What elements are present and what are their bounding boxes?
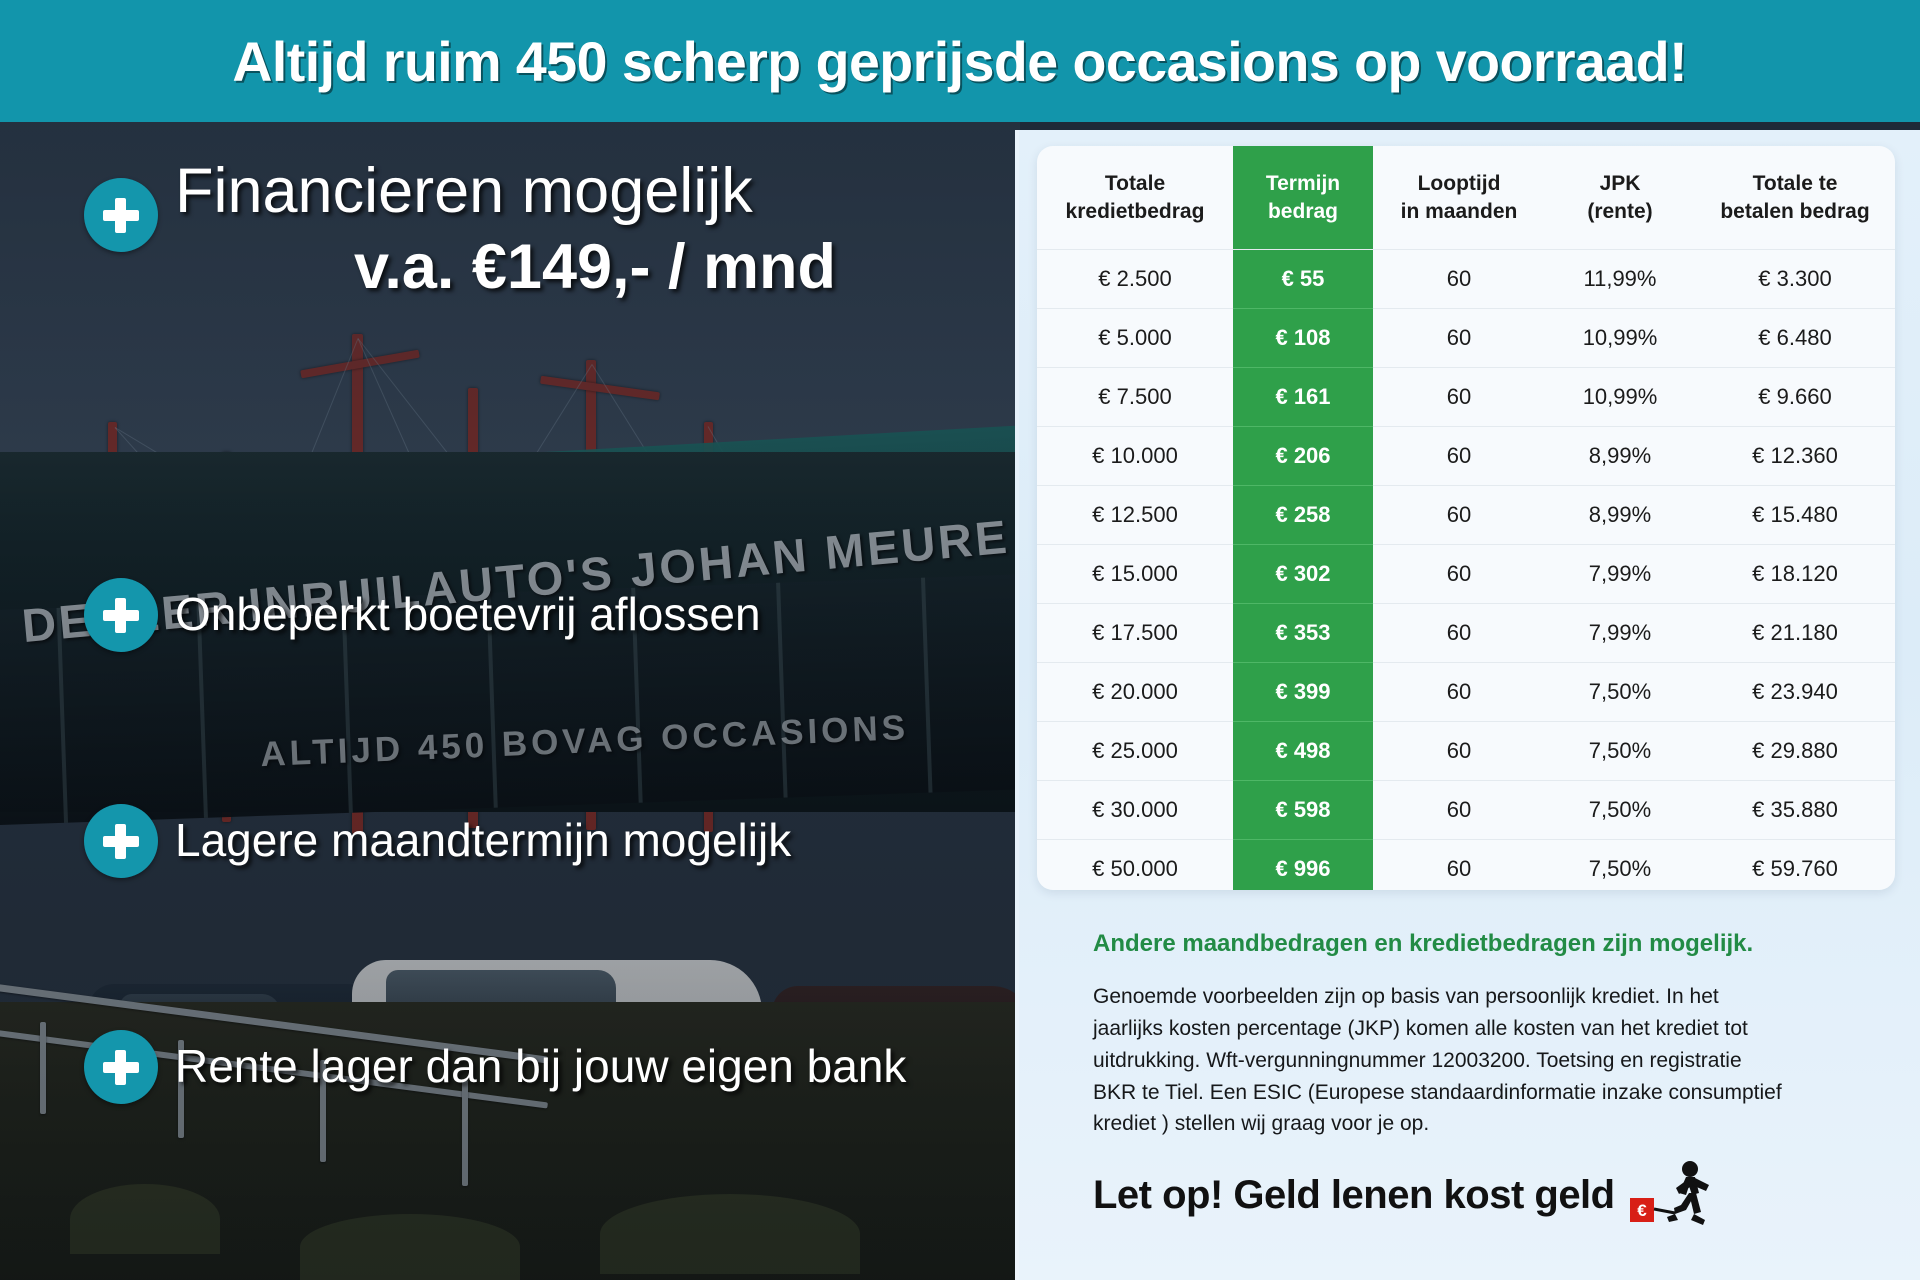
column-header-termijnbedrag: Termijn bedrag xyxy=(1233,146,1373,249)
list-item: Rente lager dan bij jouw eigen bank xyxy=(0,1026,1020,1106)
top-banner-text: Altijd ruim 450 scherp geprijsde occasio… xyxy=(233,29,1688,94)
column-header-jpk: JPK (rente) xyxy=(1545,146,1695,249)
header-line-2: in maanden xyxy=(1401,200,1518,223)
table-cell: 60 xyxy=(1373,839,1545,890)
afm-warning-text: Let op! Geld lenen kost geld xyxy=(1093,1173,1615,1218)
table-cell: € 302 xyxy=(1233,544,1373,603)
table-cell: 8,99% xyxy=(1545,426,1695,485)
table-cell: € 50.000 xyxy=(1037,839,1233,890)
table-cell: € 206 xyxy=(1233,426,1373,485)
table-row: € 10.000€ 206608,99%€ 12.360 xyxy=(1037,426,1895,485)
table-cell: € 18.120 xyxy=(1695,544,1895,603)
table-cell: 60 xyxy=(1373,426,1545,485)
table-cell: € 3.300 xyxy=(1695,249,1895,308)
svg-text:€: € xyxy=(1637,1201,1647,1220)
advertisement-banner: Altijd ruim 450 scherp geprijsde occasio… xyxy=(0,0,1920,1280)
table-cell: 60 xyxy=(1373,780,1545,839)
table-row: € 20.000€ 399607,50%€ 23.940 xyxy=(1037,662,1895,721)
header-line-1: Totale te xyxy=(1753,172,1838,195)
column-header-kredietbedrag: Totale kredietbedrag xyxy=(1037,146,1233,249)
table-row: € 5.000€ 1086010,99%€ 6.480 xyxy=(1037,308,1895,367)
table-cell: € 15.000 xyxy=(1037,544,1233,603)
list-item: Lagere maandtermijn mogelijk xyxy=(0,800,1020,880)
disclaimer-heading: Andere maandbedragen en kredietbedragen … xyxy=(1093,930,1863,959)
table-cell: 7,99% xyxy=(1545,603,1695,662)
table-cell: 60 xyxy=(1373,544,1545,603)
table-cell: € 108 xyxy=(1233,308,1373,367)
table-row: € 2.500€ 556011,99%€ 3.300 xyxy=(1037,249,1895,308)
table-cell: 10,99% xyxy=(1545,308,1695,367)
table-cell: € 2.500 xyxy=(1037,249,1233,308)
table-cell: € 23.940 xyxy=(1695,662,1895,721)
list-item: Onbeperkt boetevrij aflossen xyxy=(0,574,1020,654)
table-row: € 30.000€ 598607,50%€ 35.880 xyxy=(1037,780,1895,839)
table-cell: € 25.000 xyxy=(1037,721,1233,780)
table-cell: 60 xyxy=(1373,662,1545,721)
table-cell: € 258 xyxy=(1233,485,1373,544)
list-item-label: Lagere maandtermijn mogelijk xyxy=(175,800,791,880)
table-cell: 11,99% xyxy=(1545,249,1695,308)
disclaimer-block: Andere maandbedragen en kredietbedragen … xyxy=(1093,930,1863,1140)
table-cell: 60 xyxy=(1373,603,1545,662)
column-header-looptijd: Looptijd in maanden xyxy=(1373,146,1545,249)
afm-warning: Let op! Geld lenen kost geld € xyxy=(1093,1160,1883,1230)
table-row: € 17.500€ 353607,99%€ 21.180 xyxy=(1037,603,1895,662)
header-line-2: kredietbedrag xyxy=(1066,200,1205,223)
plus-icon xyxy=(84,1030,158,1104)
table-cell: € 59.760 xyxy=(1695,839,1895,890)
headline-line-2: v.a. €149,- / mnd xyxy=(175,234,1015,300)
header-line-1: JPK xyxy=(1600,172,1641,195)
table-row: € 15.000€ 302607,99%€ 18.120 xyxy=(1037,544,1895,603)
table-cell: 60 xyxy=(1373,721,1545,780)
table-cell: 7,50% xyxy=(1545,839,1695,890)
financing-panel: Totale kredietbedrag Termijn bedrag Loop… xyxy=(1015,130,1920,1280)
header-line-1: Termijn xyxy=(1266,172,1340,195)
table-cell: € 598 xyxy=(1233,780,1373,839)
table-body: € 2.500€ 556011,99%€ 3.300€ 5.000€ 10860… xyxy=(1037,249,1895,890)
plus-icon xyxy=(84,178,158,252)
table-cell: € 29.880 xyxy=(1695,721,1895,780)
table-cell: 60 xyxy=(1373,485,1545,544)
table-cell: € 35.880 xyxy=(1695,780,1895,839)
table-cell: € 17.500 xyxy=(1037,603,1233,662)
table-cell: 60 xyxy=(1373,308,1545,367)
table-row: € 50.000€ 996607,50%€ 59.760 xyxy=(1037,839,1895,890)
benefits-list: Financieren mogelijk v.a. €149,- / mnd O… xyxy=(0,122,1020,1280)
table-cell: 7,99% xyxy=(1545,544,1695,603)
header-line-2: bedrag xyxy=(1268,200,1338,223)
table-cell: 7,50% xyxy=(1545,662,1695,721)
header-line-2: betalen bedrag xyxy=(1720,200,1869,223)
header-line-1: Looptijd xyxy=(1418,172,1501,195)
table-header-row: Totale kredietbedrag Termijn bedrag Loop… xyxy=(1037,146,1895,249)
list-item-label: Onbeperkt boetevrij aflossen xyxy=(175,574,761,654)
panel-left-edge xyxy=(1015,130,1019,1280)
table-header: Totale kredietbedrag Termijn bedrag Loop… xyxy=(1037,146,1895,249)
table-cell: € 12.500 xyxy=(1037,485,1233,544)
disclaimer-body: Genoemde voorbeelden zijn op basis van p… xyxy=(1093,981,1783,1141)
table-cell: € 10.000 xyxy=(1037,426,1233,485)
headline-line-1: Financieren mogelijk xyxy=(175,158,1015,224)
table-cell: 10,99% xyxy=(1545,367,1695,426)
list-item-label: Rente lager dan bij jouw eigen bank xyxy=(175,1026,906,1106)
financing-table-card: Totale kredietbedrag Termijn bedrag Loop… xyxy=(1037,146,1895,890)
table-cell: 8,99% xyxy=(1545,485,1695,544)
table-cell: € 161 xyxy=(1233,367,1373,426)
table-cell: 60 xyxy=(1373,249,1545,308)
plus-icon xyxy=(84,578,158,652)
table-row: € 12.500€ 258608,99%€ 15.480 xyxy=(1037,485,1895,544)
table-cell: 7,50% xyxy=(1545,721,1695,780)
header-line-1: Totale xyxy=(1105,172,1165,195)
table-cell: € 30.000 xyxy=(1037,780,1233,839)
table-cell: € 7.500 xyxy=(1037,367,1233,426)
table-cell: € 5.000 xyxy=(1037,308,1233,367)
table-cell: € 55 xyxy=(1233,249,1373,308)
table-cell: € 15.480 xyxy=(1695,485,1895,544)
table-cell: € 498 xyxy=(1233,721,1373,780)
financing-table: Totale kredietbedrag Termijn bedrag Loop… xyxy=(1037,146,1895,890)
table-cell: € 996 xyxy=(1233,839,1373,890)
plus-icon xyxy=(84,804,158,878)
table-cell: € 20.000 xyxy=(1037,662,1233,721)
header-line-2: (rente) xyxy=(1587,200,1652,223)
column-header-totale-te-betalen: Totale te betalen bedrag xyxy=(1695,146,1895,249)
table-cell: € 9.660 xyxy=(1695,367,1895,426)
table-cell: € 6.480 xyxy=(1695,308,1895,367)
table-cell: € 12.360 xyxy=(1695,426,1895,485)
top-banner: Altijd ruim 450 scherp geprijsde occasio… xyxy=(0,0,1920,122)
table-row: € 7.500€ 1616010,99%€ 9.660 xyxy=(1037,367,1895,426)
table-cell: € 353 xyxy=(1233,603,1373,662)
table-cell: 7,50% xyxy=(1545,780,1695,839)
afm-walking-person-icon: € xyxy=(1629,1160,1717,1230)
table-cell: 60 xyxy=(1373,367,1545,426)
table-cell: € 21.180 xyxy=(1695,603,1895,662)
table-cell: € 399 xyxy=(1233,662,1373,721)
table-row: € 25.000€ 498607,50%€ 29.880 xyxy=(1037,721,1895,780)
